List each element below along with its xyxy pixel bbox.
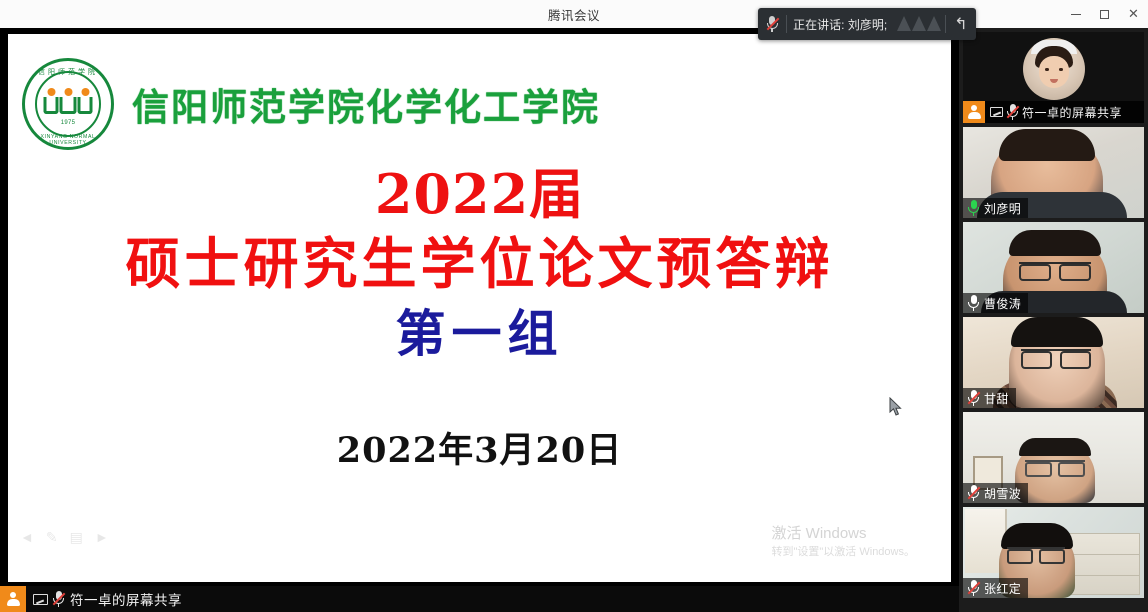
- participant-name: 曹俊涛: [984, 295, 1021, 312]
- tile-label-bar: 张红定: [963, 578, 1028, 598]
- screen-share-icon: [990, 107, 1003, 117]
- mic-muted-icon: [968, 485, 979, 502]
- shared-screen-area[interactable]: 信阳师范学院 1975 XINYANG NORMAL UNIVERSITY 信阳…: [0, 28, 959, 612]
- screen-share-status-bar: 符一卓的屏幕共享: [0, 586, 959, 612]
- floating-meeting-toolbar[interactable]: 正在讲话: 刘彦明; ↰: [758, 8, 976, 40]
- return-arrow-icon[interactable]: ↰: [946, 8, 976, 40]
- slide-header: 信阳师范学院 1975 XINYANG NORMAL UNIVERSITY 信阳…: [22, 58, 600, 150]
- mouse-pointer-icon: [889, 397, 903, 417]
- participant-name: 胡雪波: [984, 485, 1021, 502]
- minimize-icon: [1071, 14, 1081, 15]
- participant-tile[interactable]: 张红定: [963, 507, 1144, 598]
- mic-icon: [968, 295, 979, 312]
- tile-label-bar: 符一卓的屏幕共享: [963, 101, 1144, 123]
- close-icon: ✕: [1128, 8, 1139, 21]
- slide-title-main: 硕士研究生学位论文预答辩: [8, 230, 951, 299]
- participant-rail[interactable]: 符一卓的屏幕共享 刘彦明 曹俊涛: [959, 28, 1148, 612]
- maximize-icon: [1100, 10, 1109, 19]
- tile-label-bar: 刘彦明: [963, 198, 1028, 218]
- participant-tile[interactable]: 胡雪波: [963, 412, 1144, 503]
- seal-arc-bottom: XINYANG NORMAL UNIVERSITY: [22, 134, 114, 146]
- screen-share-label: 符一卓的屏幕共享: [70, 589, 182, 609]
- avatar: [1023, 38, 1085, 100]
- participant-name: 符一卓的屏幕共享: [1022, 104, 1122, 121]
- presentation-slide: 信阳师范学院 1975 XINYANG NORMAL UNIVERSITY 信阳…: [8, 34, 951, 582]
- watermark-line-2: 转到"设置"以激活 Windows。: [772, 544, 916, 560]
- participant-tile-screen-share[interactable]: 符一卓的屏幕共享: [963, 32, 1144, 123]
- prev-slide-icon[interactable]: ◄: [20, 529, 34, 546]
- menu-icon[interactable]: ▤: [70, 529, 83, 546]
- window-title: 腾讯会议: [548, 5, 600, 24]
- participant-tile[interactable]: 刘彦明: [963, 127, 1144, 218]
- participant-name: 张红定: [984, 580, 1021, 597]
- seal-arc-top: 信阳师范学院: [22, 67, 114, 77]
- maximize-button[interactable]: [1090, 0, 1119, 28]
- participant-name: 甘甜: [984, 390, 1009, 407]
- participant-name: 刘彦明: [984, 200, 1021, 217]
- tile-label-bar: 胡雪波: [963, 483, 1028, 503]
- slide-body: 2022届 硕士研究生学位论文预答辩 第一组 2022年3月20日: [8, 164, 951, 473]
- xinyang-normal-university-seal-icon: 信阳师范学院 1975 XINYANG NORMAL UNIVERSITY: [22, 58, 114, 150]
- watermark-line-1: 激活 Windows: [772, 524, 916, 544]
- seal-year: 1975: [22, 120, 114, 126]
- speaking-status-label: 正在讲话: 刘彦明;: [787, 16, 893, 33]
- next-slide-icon[interactable]: ►: [95, 529, 109, 546]
- tile-label-bar: 曹俊涛: [963, 293, 1028, 313]
- slide-date: 2022年3月20日: [8, 422, 951, 473]
- host-person-icon: [0, 586, 26, 612]
- participant-tile[interactable]: 甘甜: [963, 317, 1144, 408]
- slide-title-group: 第一组: [8, 301, 951, 366]
- mic-muted-icon: [1007, 104, 1018, 121]
- windows-activation-watermark: 激活 Windows 转到"设置"以激活 Windows。: [772, 524, 916, 560]
- minimize-button[interactable]: [1061, 0, 1090, 28]
- slide-title-year: 2022届: [8, 164, 951, 224]
- presenter-toolbar[interactable]: ◄ ✎ ▤ ►: [20, 529, 109, 546]
- mic-muted-icon: [968, 390, 979, 407]
- close-button[interactable]: ✕: [1119, 0, 1148, 28]
- mic-on-icon: [968, 200, 979, 217]
- pen-icon[interactable]: ✎: [46, 529, 58, 546]
- mic-muted-icon: [968, 580, 979, 597]
- window-controls: ✕: [1061, 0, 1148, 28]
- mic-muted-icon[interactable]: [758, 8, 786, 40]
- tencent-meeting-window: 腾讯会议 ✕ 正在讲话: 刘彦明; ↰ 信阳师范学院: [0, 0, 1148, 612]
- mic-muted-icon: [53, 591, 64, 608]
- screen-share-icon: [33, 594, 48, 605]
- tile-label-bar: 甘甜: [963, 388, 1016, 408]
- school-name: 信阳师范学院化学化工学院: [132, 77, 600, 131]
- audio-wave-icon: [893, 8, 945, 40]
- host-person-icon: [963, 101, 985, 123]
- participant-tile[interactable]: 曹俊涛: [963, 222, 1144, 313]
